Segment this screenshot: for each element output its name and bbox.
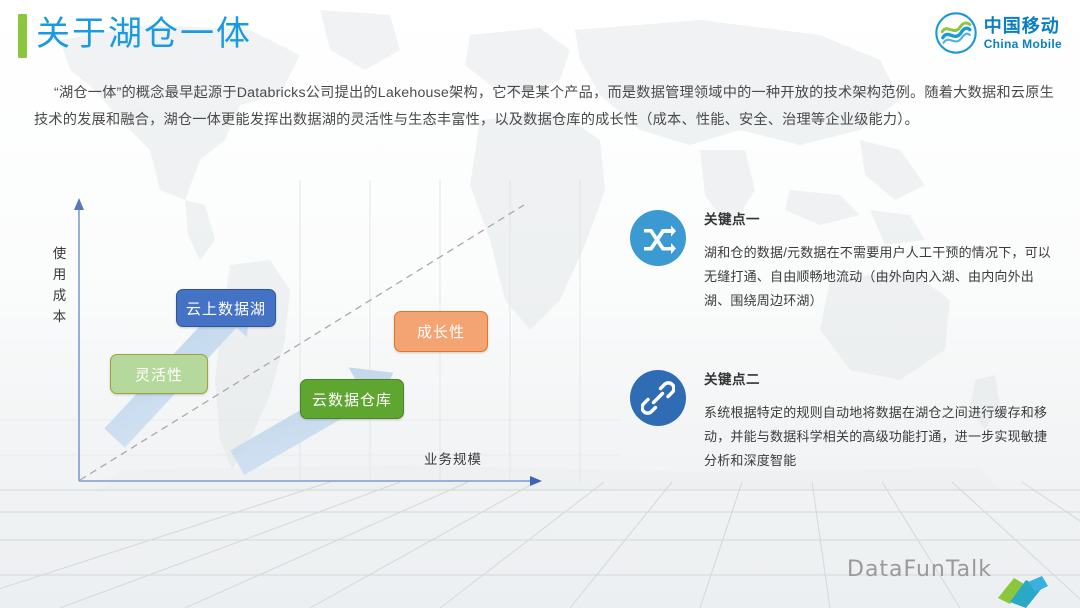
keypoint-one: 关键点一 湖和仓的数据/元数据在不需要用户人工干预的情况下，可以无缝打通、自由顺… — [630, 208, 1060, 313]
link-icon — [630, 370, 686, 426]
slide-root: 关于湖仓一体 中国移动 China Mobile “湖仓一体”的概念最早起源于D… — [0, 0, 1080, 608]
china-mobile-logo: 中国移动 China Mobile — [935, 12, 1062, 54]
keypoint-two: 关键点二 系统根据特定的规则自动地将数据在湖仓之间进行缓存和移动，并能与数据科学… — [630, 368, 1060, 473]
x-axis-label: 业务规模 — [424, 448, 482, 468]
keypoint-one-desc: 湖和仓的数据/元数据在不需要用户人工干预的情况下，可以无缝打通、自由顺畅地流动（… — [704, 241, 1060, 313]
intro-paragraph: “湖仓一体”的概念最早起源于Databricks公司提出的Lakehouse架构… — [34, 80, 1054, 134]
keypoint-two-title: 关键点二 — [704, 368, 1060, 388]
page-title: 关于湖仓一体 — [36, 9, 252, 59]
logo-text-cn: 中国移动 — [984, 17, 1062, 35]
keypoint-two-desc: 系统根据特定的规则自动地将数据在湖仓之间进行缓存和移动，并能与数据科学相关的高级… — [704, 401, 1060, 473]
shuffle-icon — [630, 210, 686, 266]
intro-paragraph-text: “湖仓一体”的概念最早起源于Databricks公司提出的Lakehouse架构… — [34, 85, 1054, 128]
box-growth[interactable]: 成长性 — [394, 311, 488, 352]
y-axis-label: 使用成本 — [50, 243, 70, 327]
box-flexibility[interactable]: 灵活性 — [110, 354, 208, 394]
box-cloud-data-lake[interactable]: 云上数据湖 — [176, 289, 276, 327]
datafuntalk-logo-icon — [994, 564, 1050, 608]
watermark-text: DataFunTalk — [847, 557, 992, 582]
keypoint-one-title: 关键点一 — [704, 208, 1060, 228]
box-cloud-data-warehouse[interactable]: 云数据仓库 — [300, 379, 404, 419]
title-accent-bar — [18, 14, 27, 58]
logo-text-en: China Mobile — [984, 38, 1062, 50]
china-mobile-mark-icon — [935, 12, 977, 54]
